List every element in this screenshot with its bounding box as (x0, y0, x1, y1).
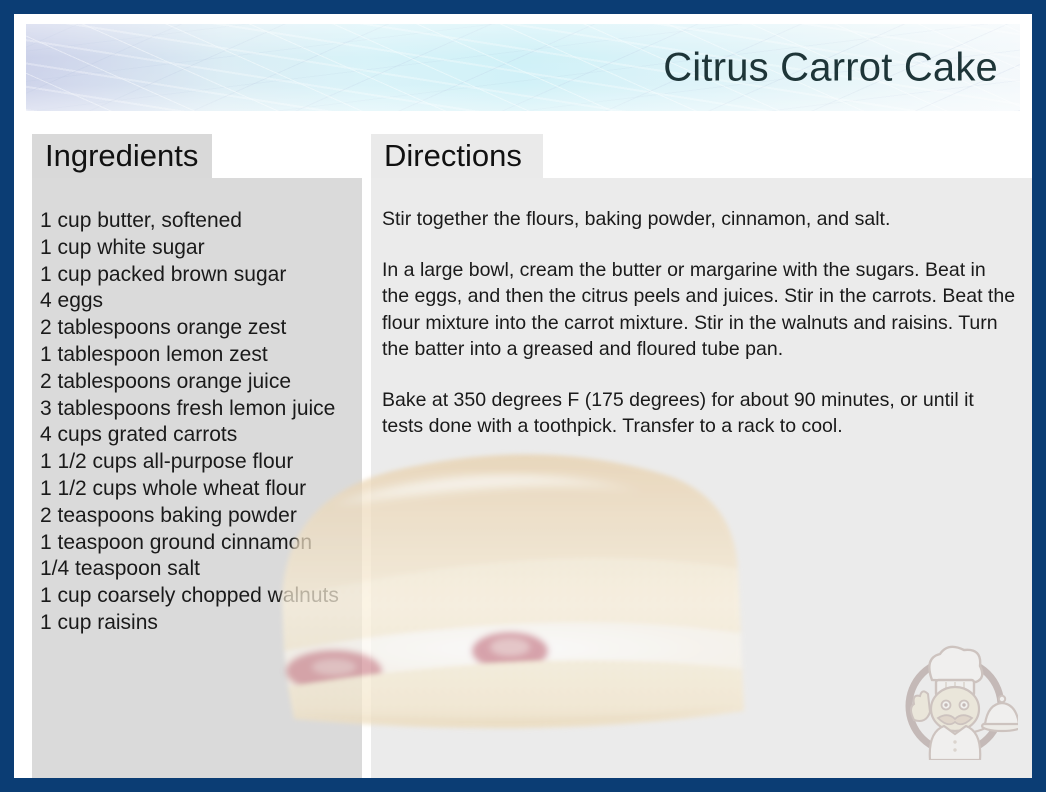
directions-panel: Stir together the flours, baking powder,… (371, 178, 1034, 778)
list-item: 4 cups grated carrots (40, 422, 358, 449)
directions-paragraph: Bake at 350 degrees F (175 degrees) for … (382, 387, 1018, 440)
directions-body: Stir together the flours, baking powder,… (382, 206, 1018, 440)
list-item: 1 cup coarsely chopped walnuts (40, 583, 358, 610)
directions-heading-tab: Directions (371, 134, 543, 178)
ingredients-heading-tab: Ingredients (32, 134, 212, 178)
list-item: 1/4 teaspoon salt (40, 556, 358, 583)
recipe-card: Citrus Carrot Cake Ingredients 1 cup but… (0, 0, 1046, 792)
list-item: 1 cup white sugar (40, 235, 358, 262)
list-item: 1 cup butter, softened (40, 208, 358, 235)
directions-paragraph: In a large bowl, cream the butter or mar… (382, 257, 1018, 363)
page-title: Citrus Carrot Cake (663, 45, 998, 90)
directions-paragraph: Stir together the flours, baking powder,… (382, 206, 1018, 233)
list-item: 1 teaspoon ground cinnamon (40, 530, 358, 557)
list-item: 1 cup raisins (40, 610, 358, 637)
ingredients-panel: 1 cup butter, softened 1 cup white sugar… (32, 178, 362, 778)
list-item: 1 1/2 cups whole wheat flour (40, 476, 358, 503)
list-item: 3 tablespoons fresh lemon juice (40, 396, 358, 423)
list-item: 2 tablespoons orange zest (40, 315, 358, 342)
list-item: 1 tablespoon lemon zest (40, 342, 358, 369)
header-banner: Citrus Carrot Cake (26, 24, 1020, 111)
list-item: 1 cup packed brown sugar (40, 262, 358, 289)
list-item: 1 1/2 cups all-purpose flour (40, 449, 358, 476)
ingredients-list: 1 cup butter, softened 1 cup white sugar… (40, 208, 358, 637)
list-item: 2 tablespoons orange juice (40, 369, 358, 396)
list-item: 4 eggs (40, 288, 358, 315)
list-item: 2 teaspoons baking powder (40, 503, 358, 530)
